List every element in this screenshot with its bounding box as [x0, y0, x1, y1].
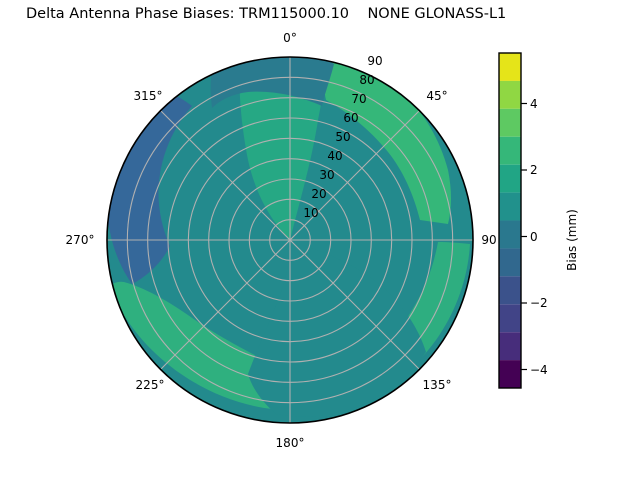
colorbar-gradient [499, 53, 521, 388]
radial-tick-50: 50 [335, 130, 350, 144]
colorbar-axis-label: Bias (mm) [565, 209, 579, 271]
figure-canvas: Delta Antenna Phase Biases: TRM115000.10… [0, 0, 640, 480]
radial-tick-80: 80 [359, 73, 374, 87]
radial-tick-90: 90 [367, 54, 382, 68]
radial-tick-60: 60 [343, 111, 358, 125]
radial-tick-10: 10 [303, 206, 318, 220]
colorbar-tick-label-neg4: −4 [530, 363, 548, 377]
angular-tick-0: 0° [283, 31, 297, 45]
radial-tick-30: 30 [319, 168, 334, 182]
radial-tick-20: 20 [311, 187, 326, 201]
colorbar-tick-label-4: 4 [530, 97, 538, 111]
angular-tick-225: 225° [136, 378, 165, 392]
radial-tick-40: 40 [327, 149, 342, 163]
colorbar-tick-label-2: 2 [530, 163, 538, 177]
angular-tick-180: 180° [276, 436, 305, 450]
angular-tick-45: 45° [426, 89, 447, 103]
polar-grid [107, 57, 473, 423]
angular-tick-315: 315° [134, 89, 163, 103]
angular-tick-90: 90 [481, 233, 496, 247]
polar-plot-svg [0, 0, 640, 480]
colorbar-tick-label-0: 0 [530, 230, 538, 244]
radial-tick-70: 70 [351, 92, 366, 106]
figure-title: Delta Antenna Phase Biases: TRM115000.10… [0, 6, 640, 22]
angular-tick-270: 270° [66, 233, 95, 247]
colorbar-tick-label-neg2: −2 [530, 296, 548, 310]
angular-tick-135: 135° [423, 378, 452, 392]
colorbar[interactable] [499, 53, 527, 388]
